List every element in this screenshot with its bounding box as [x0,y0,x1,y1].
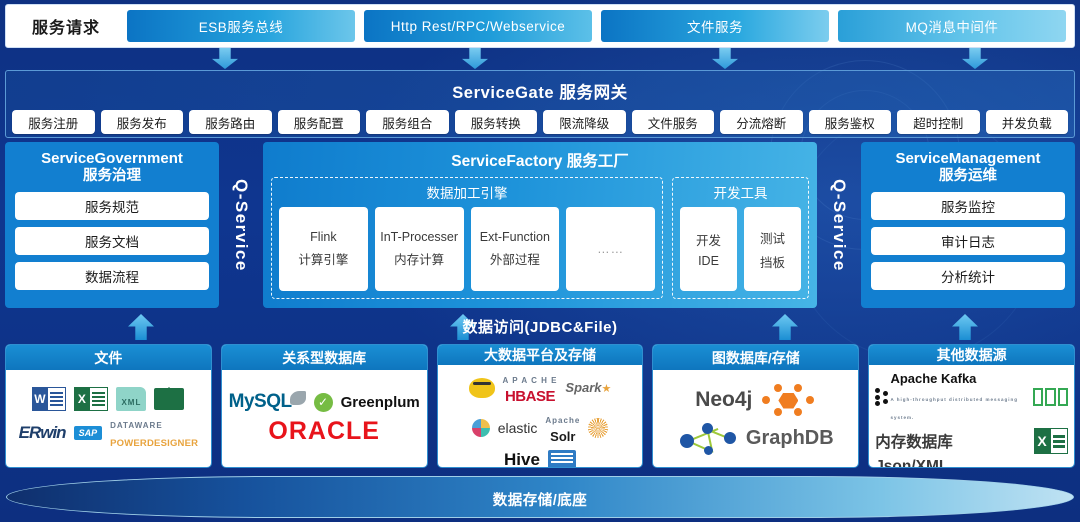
engine-card-more[interactable]: …… [566,207,655,291]
service-factory-title: ServiceFactory 服务工厂 [271,149,809,171]
dev-tools-card-list: 开发 IDE 测试 挡板 [680,207,801,291]
gate-chip-timeout-control[interactable]: 超时控制 [897,110,980,134]
service-request-button-file[interactable]: 文件服务 [601,10,829,42]
data-source-card-file[interactable]: 文件 W X XML ERwin SAP [5,344,212,468]
gate-chip-file-service[interactable]: 文件服务 [632,110,715,134]
dev-tools-card-test-desc: 挡板 [760,252,785,271]
data-source-body-other: Apache Kafka A high-throughput distribut… [869,365,1074,468]
data-source-card-rdbms[interactable]: 关系型数据库 MySQL ✓ Greenplum ORACLE [221,344,428,468]
data-source-title-rdbms: 关系型数据库 [222,345,427,370]
data-source-card-bigdata[interactable]: 大数据平台及存储 A P A C H E HBASE Spark★ elasti… [437,344,644,468]
powerdesigner-label-group: DATAWARE POWERDESIGNER [110,415,198,451]
gate-chip-service-compose[interactable]: 服务组合 [366,110,449,134]
greenplum-label: Greenplum [341,394,420,411]
neo4j-graph-icon [678,422,738,456]
bigdata-logo-row-1: A P A C H E HBASE Spark★ [444,370,637,406]
service-request-button-http[interactable]: Http Rest/RPC/Webservice [364,10,592,42]
engine-card-more-label: …… [597,242,624,256]
file-logo-row-1: W X XML [12,387,205,411]
hbase-icon: A P A C H E HBASE [503,370,558,406]
service-gate-panel: ServiceGate 服务网关 服务注册 服务发布 服务路由 服务配置 服务组… [5,70,1075,138]
service-gate-title: ServiceGate 服务网关 [6,71,1074,103]
gate-chip-concurrent-load[interactable]: 并发负载 [986,110,1069,134]
service-factory-panel: ServiceFactory 服务工厂 数据加工引擎 Flink 计算引擎 In… [263,142,817,308]
service-management-title-en: ServiceManagement [871,150,1065,168]
data-processing-engine-title: 数据加工引擎 [279,182,655,202]
dev-tools-card-ide-desc: IDE [698,254,719,268]
data-source-title-bigdata: 大数据平台及存储 [438,345,643,365]
engine-card-int-processer-desc: 内存计算 [394,249,444,268]
management-item-analytics[interactable]: 分析统计 [871,262,1065,290]
solr-icon: Apache Solr [545,410,580,446]
dev-tools-title: 开发工具 [680,182,801,202]
data-storage-base-label: 数据存储/底座 [6,489,1074,510]
engine-card-list: Flink 计算引擎 InT-Processer 内存计算 Ext-Functi… [279,207,655,291]
data-source-title-other: 其他数据源 [869,345,1074,365]
hive-doc-icon [548,450,576,468]
gate-chip-service-publish[interactable]: 服务发布 [101,110,184,134]
hive-label: Hive [504,450,540,468]
erwin-icon: ERwin [19,423,66,443]
service-request-button-mq[interactable]: MQ消息中间件 [838,10,1066,42]
spark-icon: Spark★ [565,379,611,397]
bigdata-logo-row-2: elastic Apache Solr [444,410,637,446]
bigdata-logo-row-3: Hive [444,450,637,468]
data-source-body-bigdata: A P A C H E HBASE Spark★ elastic Apache … [438,365,643,468]
arrow-down-icon [962,48,988,69]
governance-item-service-doc[interactable]: 服务文档 [15,227,209,255]
rdbms-logo-row-1: MySQL ✓ Greenplum [228,391,421,413]
arrow-down-icon [212,48,238,69]
powerdesigner-label: POWERDESIGNER [110,438,198,449]
dev-tools-card-test[interactable]: 测试 挡板 [744,207,801,291]
gate-chip-service-transform[interactable]: 服务转换 [455,110,538,134]
governance-item-service-spec[interactable]: 服务规范 [15,192,209,220]
engine-card-flink[interactable]: Flink 计算引擎 [279,207,368,291]
elasticsearch-icon [472,419,490,437]
data-storage-base: 数据存储/底座 [6,476,1074,518]
gate-chip-service-route[interactable]: 服务路由 [189,110,272,134]
service-request-bar: 服务请求 ESB服务总线 Http Rest/RPC/Webservice 文件… [5,4,1075,48]
other-logo-row-3: Json/XML [875,458,1068,468]
data-source-row: 文件 W X XML ERwin SAP [5,344,1075,468]
excel-icon: X [74,387,108,411]
sap-icon: SAP [74,426,103,440]
service-government-title-en: ServiceGovernment [15,150,209,168]
rdbms-logo-row-2: ORACLE [228,417,421,446]
kafka-label: Apache Kafka [890,371,976,386]
other-logo-row-1: Apache Kafka A high-throughput distribut… [875,370,1068,424]
dev-tools-group: 开发工具 开发 IDE 测试 挡板 [672,177,809,299]
q-service-label-left: Q-Service [219,142,263,308]
engine-card-ext-function-desc: 外部过程 [490,249,540,268]
elastic-label: elastic [498,420,538,436]
data-source-body-rdbms: MySQL ✓ Greenplum ORACLE [222,370,427,467]
q-service-text-right: Q-Service [829,179,849,272]
service-management-panel: ServiceManagement 服务运维 服务监控 审计日志 分析统计 [861,142,1075,308]
service-management-title: ServiceManagement 服务运维 [871,150,1065,185]
graphdb-label: GraphDB [746,427,834,450]
data-source-card-graphdb[interactable]: 图数据库/存储 Neo4j [652,344,859,468]
service-government-panel: ServiceGovernment 服务治理 服务规范 服务文档 数据流程 [5,142,219,308]
data-processing-engine-group: 数据加工引擎 Flink 计算引擎 InT-Processer 内存计算 Ext… [271,177,663,299]
kafka-icon: Apache Kafka A high-throughput distribut… [875,370,1025,424]
data-access-title: 数据访问(JDBC&File) [0,316,1080,337]
ontotext-icon [760,382,816,418]
service-government-title-cn: 服务治理 [15,168,209,185]
management-item-service-monitor[interactable]: 服务监控 [871,192,1065,220]
dev-tools-card-ide[interactable]: 开发 IDE [680,207,737,291]
data-source-body-file: W X XML ERwin SAP DATAWARE POWERDES [6,370,211,467]
kafka-subtitle: A high-throughput distributed messaging … [890,397,1018,420]
engine-card-int-processer-name: InT-Processer [380,230,458,244]
q-service-text-left: Q-Service [231,179,251,272]
gate-chip-service-register[interactable]: 服务注册 [12,110,95,134]
oracle-icon: ORACLE [268,417,380,446]
data-access-band: 数据访问(JDBC&File) [0,310,1080,344]
service-request-label: 服务请求 [14,14,118,38]
service-management-title-cn: 服务运维 [871,168,1065,185]
json-xml-label: Json/XML [875,458,948,468]
diagram-canvas: 服务请求 ESB服务总线 Http Rest/RPC/Webservice 文件… [0,0,1080,522]
data-source-body-graphdb: Neo4j [653,370,858,467]
neo4j-label: Neo4j [695,388,752,412]
hive-bee-icon [469,378,495,398]
engine-card-ext-function[interactable]: Ext-Function 外部过程 [471,207,560,291]
data-source-title-file: 文件 [6,345,211,370]
middle-layer: ServiceGovernment 服务治理 服务规范 服务文档 数据流程 Q-… [5,142,1075,308]
graphdb-logo-row-1: Neo4j [659,382,852,418]
memory-db-label: 内存数据库 [875,434,953,451]
engine-card-flink-desc: 计算引擎 [298,249,348,268]
dev-tools-card-ide-name: 开发 [696,230,721,249]
dev-tools-card-test-name: 测试 [760,228,785,247]
data-source-title-graphdb: 图数据库/存储 [653,345,858,370]
gate-chip-rate-limit[interactable]: 限流降级 [543,110,626,134]
graphdb-logo-row-2: GraphDB [659,422,852,456]
gate-chip-circuit-breaker[interactable]: 分流熔断 [720,110,803,134]
governance-item-data-flow[interactable]: 数据流程 [15,262,209,290]
solr-sunburst-icon [588,418,608,438]
service-request-button-esb[interactable]: ESB服务总线 [127,10,355,42]
dataware-label: DATAWARE [110,421,163,430]
file-logo-row-2: ERwin SAP DATAWARE POWERDESIGNER [12,415,205,451]
data-source-card-other[interactable]: 其他数据源 Apache Kafka A high-throughput dis… [868,344,1075,468]
service-factory-body: 数据加工引擎 Flink 计算引擎 InT-Processer 内存计算 Ext… [271,177,809,299]
engine-card-flink-name: Flink [310,230,336,244]
table-green-icon [1033,388,1068,406]
excel-icon-2: X [1034,428,1068,454]
other-logo-row-2: 内存数据库 X [875,428,1068,454]
management-item-audit-log[interactable]: 审计日志 [871,227,1065,255]
word-icon: W [32,387,66,411]
engine-card-int-processer[interactable]: InT-Processer 内存计算 [375,207,464,291]
greenplum-icon: ✓ [314,393,333,412]
engine-card-ext-function-name: Ext-Function [480,230,550,244]
dataware-icon [154,388,184,410]
xml-icon: XML [116,387,146,411]
service-gate-chip-list: 服务注册 服务发布 服务路由 服务配置 服务组合 服务转换 限流降级 文件服务 … [6,103,1074,134]
service-government-title: ServiceGovernment 服务治理 [15,150,209,185]
arrow-down-icon [712,48,738,69]
arrow-down-icon [462,48,488,69]
q-service-label-right: Q-Service [817,142,861,308]
gate-chip-service-config[interactable]: 服务配置 [278,110,361,134]
gate-chip-service-auth[interactable]: 服务鉴权 [809,110,892,134]
mysql-icon: MySQL [229,391,306,413]
